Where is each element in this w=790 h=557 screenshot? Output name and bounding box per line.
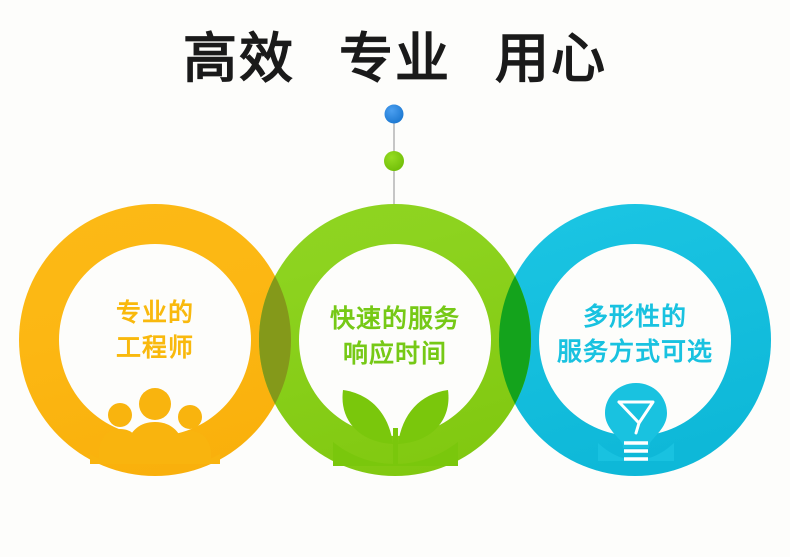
circle-response-time-content: 快速的服务 响应时间 bbox=[290, 302, 500, 371]
circle-engineers-title: 专业的 工程师 bbox=[50, 296, 260, 365]
ring-response-time[interactable] bbox=[0, 0, 790, 557]
circle-response-time-title: 快速的服务 响应时间 bbox=[290, 302, 500, 371]
circle-engineers-content: 专业的 工程师 bbox=[50, 296, 260, 365]
circle-service-modes-content: 多形性的 服务方式可选 bbox=[530, 300, 740, 369]
venn-rings-graphic bbox=[0, 0, 790, 557]
circle-service-modes-title: 多形性的 服务方式可选 bbox=[530, 300, 740, 369]
infographic-canvas: 高效专业用心 bbox=[0, 0, 790, 557]
